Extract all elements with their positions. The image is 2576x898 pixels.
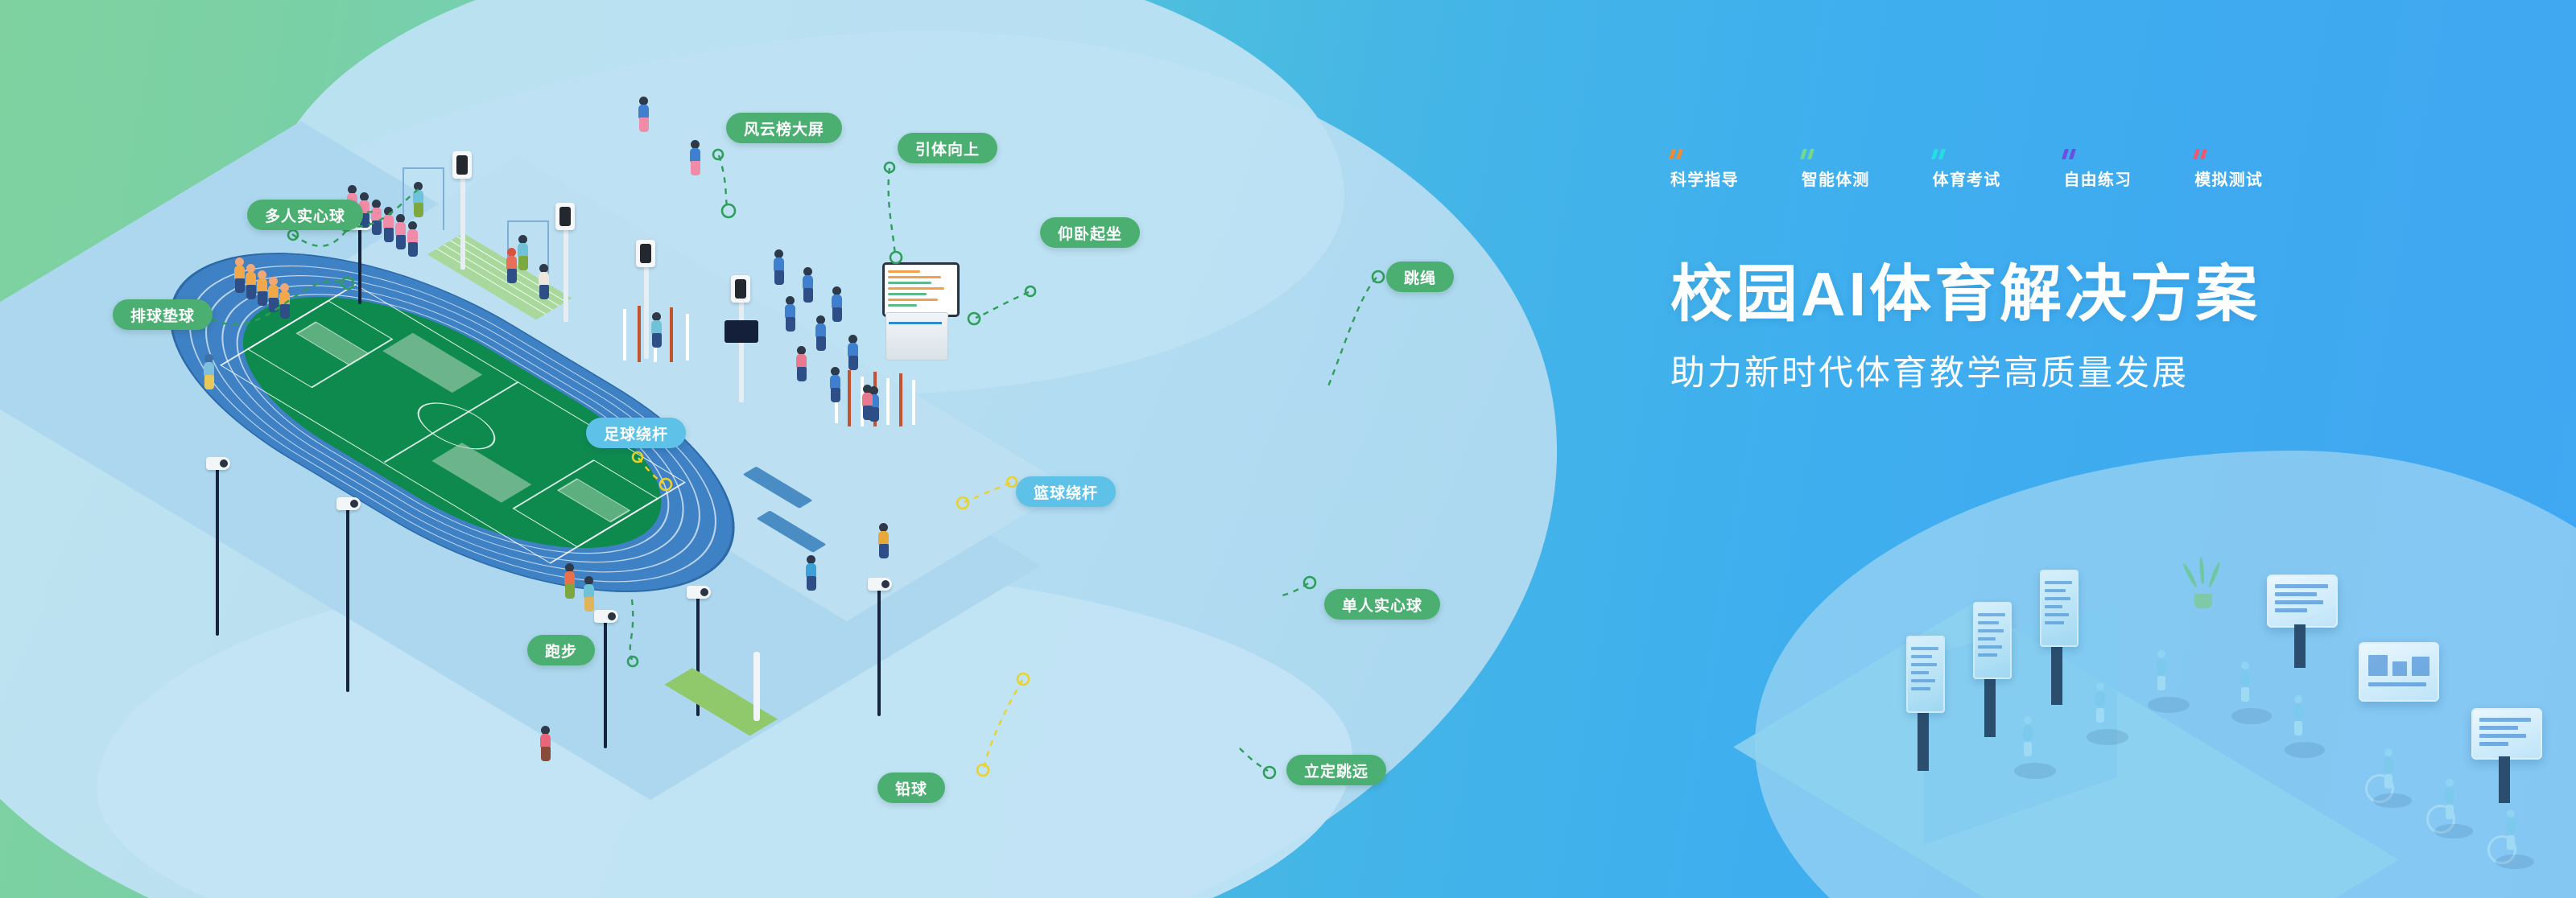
hero-banner: 排球垫球 多人实心球 风云榜大屏 引体向上 仰卧起坐 跳绳 足球绕杆 篮球绕杆 …	[0, 0, 2576, 898]
kiosk-stand	[1984, 674, 1996, 737]
security-camera-icon	[594, 610, 618, 623]
feature-tag-2[interactable]: 体育考试	[1933, 149, 2001, 190]
gym-kiosk-screen	[1973, 602, 2012, 679]
gym-wall-display	[2471, 708, 2542, 760]
security-camera-icon	[206, 457, 230, 470]
kiosk-stand	[2051, 642, 2062, 705]
athlete-pullup	[517, 235, 530, 270]
kiosk-base	[885, 312, 948, 360]
leaderboard-kiosk	[877, 262, 955, 365]
gym-room-illustration	[1876, 555, 2576, 898]
pill-pull-up[interactable]: 引体向上	[898, 133, 997, 163]
pill-volleyball-pass[interactable]: 排球垫球	[113, 299, 213, 330]
info-display	[724, 320, 758, 343]
slalom-poles-football	[620, 306, 708, 370]
camera-pole	[604, 620, 607, 748]
pill-rope-skipping[interactable]: 跳绳	[1386, 262, 1454, 292]
runner	[583, 576, 596, 612]
potted-plant-icon	[2191, 560, 2215, 608]
gym-wall-display	[2267, 575, 2338, 628]
slalom-poles-basketball	[833, 370, 930, 435]
pill-running[interactable]: 跑步	[527, 635, 595, 665]
feature-tag-label: 智能体测	[1802, 167, 1870, 190]
pill-leaderboard-screen[interactable]: 风云榜大屏	[726, 113, 842, 143]
leaderboard-screen	[882, 262, 960, 317]
figure-shadow	[2231, 708, 2272, 724]
station-post	[563, 225, 568, 322]
gym-figure-football	[2017, 716, 2040, 764]
station-screen	[731, 275, 750, 303]
gym-figure-football	[2151, 650, 2173, 698]
feature-tag-4[interactable]: 模拟测试	[2194, 149, 2263, 190]
athlete-football	[650, 312, 663, 348]
athlete-situp	[638, 97, 650, 132]
runner	[563, 563, 576, 599]
gym-kiosk-screen	[2040, 570, 2079, 647]
athlete-situp	[689, 140, 702, 175]
double-slash-icon	[2194, 149, 2212, 159]
gym-figure-hoop	[2439, 779, 2462, 827]
camera-pole	[216, 467, 219, 636]
gym-figure-jumping	[2288, 695, 2310, 744]
gym-figure-jumping	[2235, 661, 2257, 710]
hero-copy: 科学指导 智能体测 体育考试 自由练习	[1670, 149, 2475, 391]
pill-single-solid-ball[interactable]: 单人实心球	[1324, 589, 1440, 620]
security-camera-icon	[336, 497, 361, 510]
pill-standing-long-jump[interactable]: 立定跳远	[1286, 755, 1386, 785]
station-screen	[555, 203, 575, 230]
athlete-shotput	[805, 555, 818, 591]
figure-shadow	[2148, 697, 2190, 713]
feature-tag-label: 自由练习	[2063, 167, 2132, 190]
athlete-volleyball	[203, 354, 216, 389]
pill-multi-solid-ball[interactable]: 多人实心球	[247, 200, 363, 230]
feature-tag-0[interactable]: 科学指导	[1670, 149, 1739, 190]
camera-pole	[346, 507, 349, 692]
gym-figure-hoop	[2378, 748, 2401, 797]
page-title: 校园AI体育解决方案	[1670, 264, 2475, 326]
pill-shot-put[interactable]: 铅球	[877, 772, 945, 803]
runner	[538, 264, 551, 299]
station-post	[739, 298, 744, 402]
gym-dashboard-display	[2359, 642, 2439, 702]
athlete-pullup	[412, 182, 425, 217]
athlete-basketball-shoot	[877, 523, 890, 558]
gym-figure-football	[2090, 682, 2112, 731]
figure-shadow	[2087, 729, 2128, 745]
station-screen	[452, 151, 472, 179]
station-screen	[636, 240, 655, 267]
double-slash-icon	[1933, 149, 1951, 159]
pill-basketball-slalom[interactable]: 篮球绕杆	[1016, 476, 1116, 507]
athlete-longjump	[539, 726, 552, 761]
feature-tag-label: 体育考试	[1933, 167, 2001, 190]
gym-kiosk-screen	[1906, 636, 1945, 713]
camera-pole	[358, 227, 361, 304]
station-post	[644, 262, 649, 359]
camera-pole	[877, 587, 881, 716]
figure-shadow	[2014, 763, 2056, 779]
stadium-illustration	[242, 105, 1562, 797]
kiosk-stripe	[889, 322, 942, 324]
kiosk-stand	[1918, 708, 1929, 771]
long-jump-post	[753, 652, 760, 721]
double-slash-icon	[2063, 149, 2081, 159]
feature-tag-list: 科学指导 智能体测 体育考试 自由练习	[1670, 149, 2475, 190]
feature-tag-1[interactable]: 智能体测	[1802, 149, 1870, 190]
double-slash-icon	[1802, 149, 1819, 159]
pill-sit-up[interactable]: 仰卧起坐	[1040, 217, 1140, 248]
display-stand	[2294, 624, 2306, 668]
page-subtitle: 助力新时代体育教学高质量发展	[1670, 356, 2475, 391]
station-post	[460, 173, 465, 270]
double-slash-icon	[1670, 149, 1688, 159]
security-camera-icon	[868, 578, 892, 591]
security-camera-icon	[687, 586, 711, 599]
feature-tag-label: 科学指导	[1670, 167, 1739, 190]
pill-football-slalom[interactable]: 足球绕杆	[586, 418, 686, 448]
figure-shadow	[2285, 742, 2325, 758]
display-stand	[2499, 756, 2510, 803]
gym-figure-hoop	[2500, 809, 2523, 858]
feature-tag-3[interactable]: 自由练习	[2063, 149, 2132, 190]
feature-tag-label: 模拟测试	[2194, 167, 2263, 190]
